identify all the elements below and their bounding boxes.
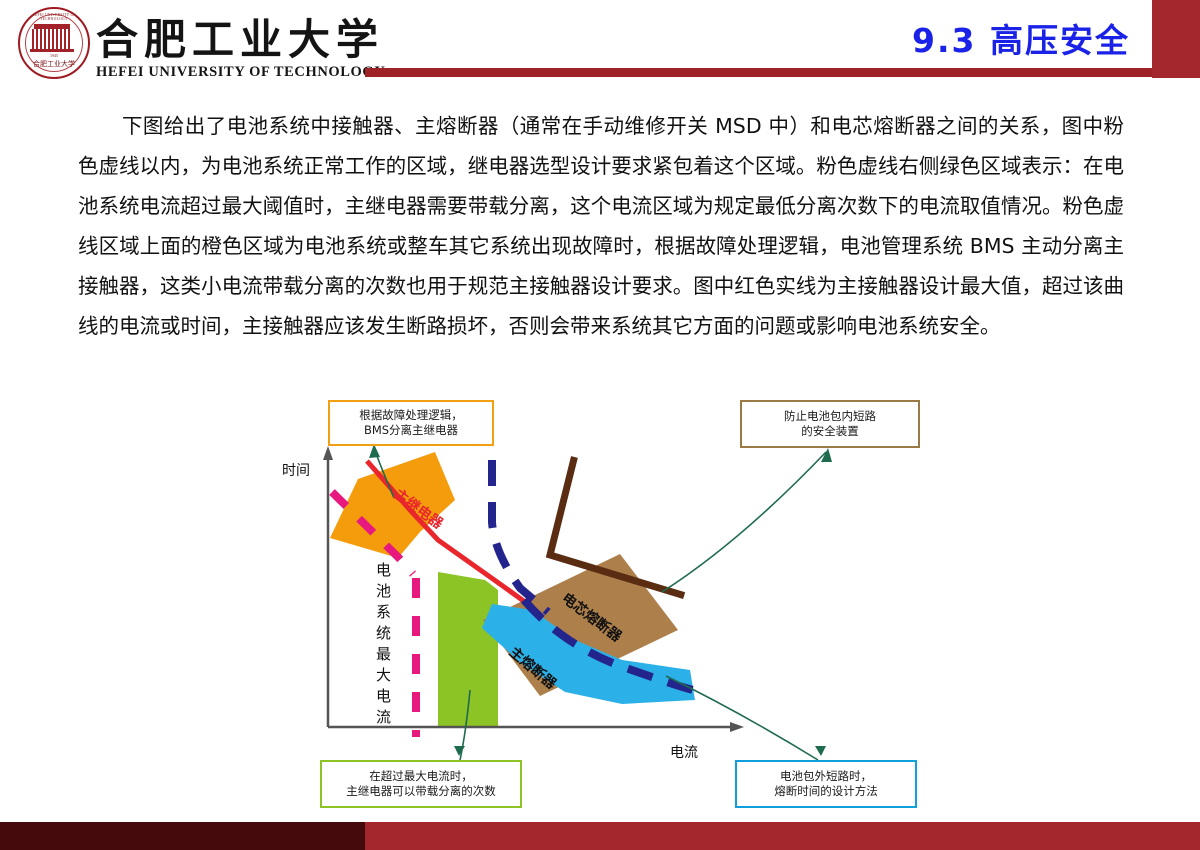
arrowhead-green <box>454 746 465 756</box>
callout-over-max-current-cycles: 在超过最大电流时， 主继电器可以带载分离的次数 <box>320 760 522 808</box>
orange-region <box>330 452 455 558</box>
callout-line-2: BMS分离主继电器 <box>364 423 458 438</box>
university-seal-icon: HEFEI UNIVERSITY OF TECHNOLOGY 1945 合肥工业… <box>18 7 90 79</box>
arrowhead-cyan <box>815 746 826 756</box>
university-logo-area: HEFEI UNIVERSITY OF TECHNOLOGY 1945 合肥工业… <box>8 2 368 84</box>
callout-line-2: 的安全装置 <box>801 424 859 439</box>
seal-arc-bottom-text: 合肥工业大学 <box>20 59 88 69</box>
callout-external-short-fuse-time: 电池包外短路时， 熔断时间的设计方法 <box>735 760 917 808</box>
callout-pack-internal-short: 防止电池包内短路 的安全装置 <box>740 400 920 448</box>
seal-arc-top-text: HEFEI UNIVERSITY OF TECHNOLOGY <box>20 13 88 21</box>
y-axis-arrow <box>323 446 333 460</box>
university-name-cn: 合肥工业大学 <box>96 6 384 67</box>
y-axis-label: 时间 <box>282 460 310 480</box>
diagram-svg <box>270 392 950 817</box>
arrowhead-bms <box>369 444 380 458</box>
x-axis-arrow <box>730 722 744 732</box>
callout-line-2: 熔断时间的设计方法 <box>774 784 878 799</box>
header-rule <box>365 68 1200 77</box>
connector-safety <box>662 452 826 592</box>
callout-line-2: 主继电器可以带载分离的次数 <box>346 784 496 799</box>
slide-header: HEFEI UNIVERSITY OF TECHNOLOGY 1945 合肥工业… <box>0 0 1200 90</box>
footer-right-band <box>365 822 1200 850</box>
seal-year-text: 1945 <box>20 53 88 58</box>
header-corner-block <box>1152 0 1200 78</box>
current-vs-time-diagram: 时间 电流 电池系统最大电流 主继电器 电芯熔断器 主熔断器 根据故障处理逻辑，… <box>270 392 950 817</box>
callout-line-1: 防止电池包内短路 <box>784 409 876 424</box>
footer-left-band <box>0 822 365 850</box>
x-axis-label: 电流 <box>670 742 698 762</box>
callout-line-1: 电池包外短路时， <box>780 769 872 784</box>
callout-line-1: 根据故障处理逻辑， <box>359 408 463 423</box>
seal-building-base <box>30 49 74 52</box>
slide-paragraph: 下图给出了电池系统中接触器、主熔断器（通常在手动维修开关 MSD 中）和电芯熔断… <box>78 106 1124 346</box>
callout-line-1: 在超过最大电流时， <box>369 769 473 784</box>
max-current-vertical-label: 电池系统最大电流 <box>375 560 392 728</box>
seal-building-icon <box>32 29 72 49</box>
university-name-en: HEFEI UNIVERSITY OF TECHNOLOGY <box>96 64 385 81</box>
slide-title: 9.3 高压安全 <box>912 14 1130 62</box>
callout-bms-fault-logic: 根据故障处理逻辑， BMS分离主继电器 <box>328 400 494 446</box>
slide-footer <box>0 822 1200 850</box>
